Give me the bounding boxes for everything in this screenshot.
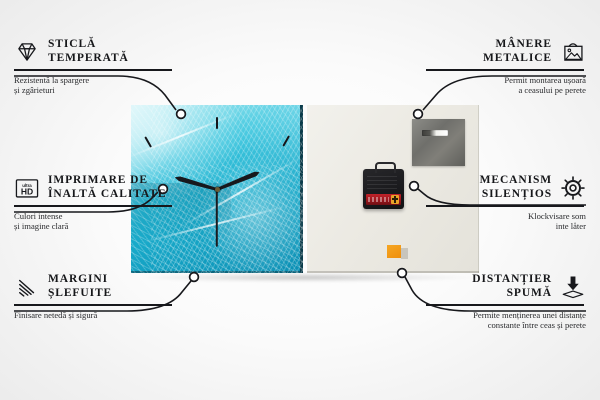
callout-description: Permit montarea ușoară a ceasului pe per…	[426, 75, 586, 96]
callout-title: DISTANȚIER SPUMĂ	[472, 273, 552, 300]
callout-title: IMPRIMARE DE ÎNALTĂ CALITATE	[48, 174, 166, 201]
gear-icon	[560, 175, 586, 201]
diamond-icon	[14, 39, 40, 65]
callout-title: MÂNERE METALICE	[483, 38, 552, 65]
battery	[366, 194, 401, 205]
second-hand	[216, 189, 218, 247]
callout-description: Rezistentă la spargere și zgârieturi	[14, 75, 174, 96]
callout-description: Permite menținerea unei distanțe constan…	[426, 310, 586, 331]
callout-imprimare-inalta-calitate: ultra HD IMPRIMARE DE ÎNALTĂ CALITATE Cu…	[14, 174, 174, 231]
callout-margini-slefuite: MARGINI ȘLEFUITE Finisare netedă și sigu…	[14, 273, 174, 320]
hour-mark-12	[216, 117, 218, 129]
callout-divider	[426, 69, 584, 71]
spacer-arrow-icon	[560, 274, 586, 300]
callout-header: DISTANȚIER SPUMĂ	[426, 273, 586, 300]
callout-divider	[14, 304, 172, 306]
hour-mark-1	[282, 135, 290, 146]
ultra-hd-icon: ultra HD	[14, 175, 40, 201]
callout-title: MECANISM SILENȚIOS	[480, 174, 552, 201]
callout-header: MARGINI ȘLEFUITE	[14, 273, 174, 300]
polished-edges-icon	[14, 274, 40, 300]
movement-texture	[367, 175, 397, 189]
callout-divider	[14, 205, 172, 207]
callout-title: MARGINI ȘLEFUITE	[48, 273, 112, 300]
hour-hand	[174, 174, 218, 191]
callout-header: ultra HD IMPRIMARE DE ÎNALTĂ CALITATE	[14, 174, 174, 201]
infographic-canvas: STICLĂ TEMPERATĂ Rezistentă la spargere …	[0, 0, 600, 400]
battery-label	[368, 197, 389, 202]
callout-header: STICLĂ TEMPERATĂ	[14, 38, 174, 65]
callout-distantier-spuma: DISTANȚIER SPUMĂ Permite menținerea unei…	[426, 273, 586, 330]
picture-hanger-icon	[560, 39, 586, 65]
battery-plus-terminal	[391, 195, 399, 204]
callout-divider	[426, 205, 584, 207]
minute-hand	[216, 169, 261, 191]
foam-spacer-shadow	[401, 248, 408, 259]
callout-description: Finisare netedă și sigură	[14, 310, 174, 320]
callout-description: Klockvisare som inte låter	[426, 211, 586, 232]
hour-mark-11	[144, 136, 152, 147]
callout-manere-metalice: MÂNERE METALICE Permit montarea ușoară a…	[426, 38, 586, 95]
callout-title: STICLĂ TEMPERATĂ	[48, 38, 129, 65]
clock-center-pin	[215, 187, 220, 192]
quartz-movement	[363, 169, 404, 209]
hanger-slot	[422, 130, 448, 136]
foam-spacer	[387, 245, 401, 258]
callout-divider	[14, 69, 172, 71]
callout-mecanism-silentios: MECANISM SILENȚIOS Klockvisare som inte …	[426, 174, 586, 231]
callout-header: MECANISM SILENȚIOS	[426, 174, 586, 201]
callout-header: MÂNERE METALICE	[426, 38, 586, 65]
callout-description: Culori intense și imagine clară	[14, 211, 174, 232]
callout-sticla-temperata: STICLĂ TEMPERATĂ Rezistentă la spargere …	[14, 38, 174, 95]
callout-divider	[426, 304, 584, 306]
hanging-loop	[375, 162, 396, 173]
svg-text:HD: HD	[21, 186, 33, 196]
metal-hanger	[412, 119, 465, 166]
